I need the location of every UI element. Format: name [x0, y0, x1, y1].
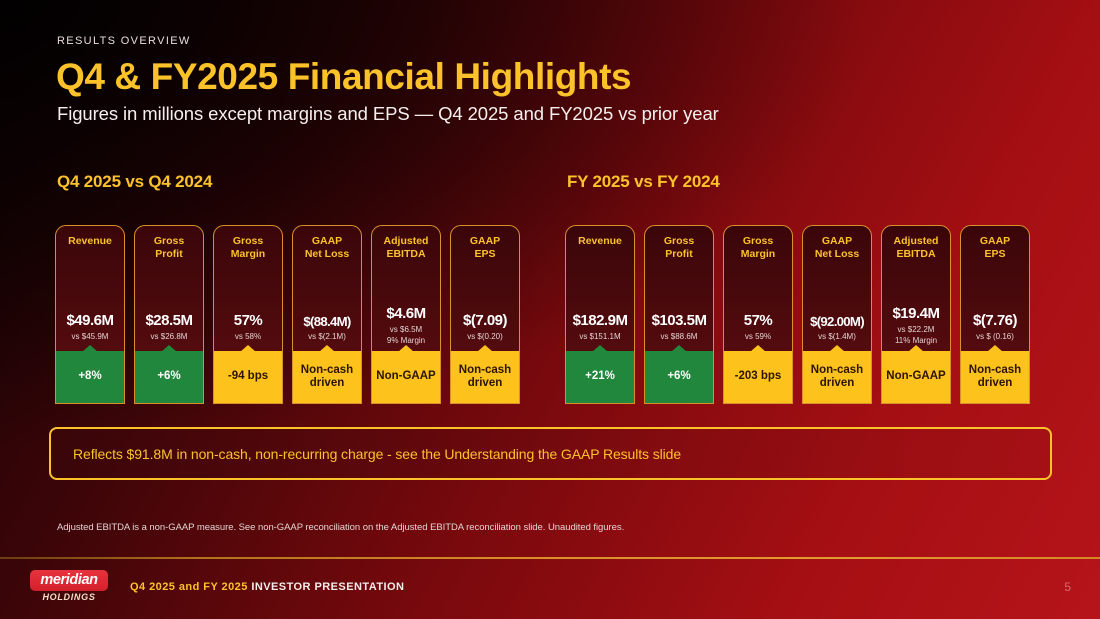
page-title: Q4 & FY2025 Financial Highlights [56, 56, 631, 98]
callout-box: Reflects $91.8M in non-cash, non-recurri… [49, 427, 1052, 480]
brand-logo-name: meridian [30, 570, 108, 591]
metric-card-body: Revenue$182.9Mvs $151.1M [566, 226, 634, 351]
chevron-up-icon [319, 345, 335, 352]
eyebrow-label: RESULTS OVERVIEW [57, 35, 191, 47]
metric-card: GAAP EPS$(7.09)vs $(0.20)Non-cash driven [450, 225, 520, 404]
metric-card-group-fy: Revenue$182.9Mvs $151.1M+21%Gross Profit… [565, 225, 1030, 404]
metric-card-footer: Non-GAAP [882, 351, 950, 403]
metric-card-label: GAAP Net Loss [815, 235, 859, 261]
chevron-up-icon [829, 345, 845, 352]
metric-card-footer: -94 bps [214, 351, 282, 403]
metric-card: GAAP EPS$(7.76)vs $ (0.16)Non-cash drive… [960, 225, 1030, 404]
slide-footer: meridian HOLDINGS Q4 2025 and FY 2025 IN… [0, 559, 1100, 619]
brand-logo: meridian HOLDINGS [30, 570, 108, 602]
metric-card: Adjusted EBITDA$4.6Mvs $6.5M9% MarginNon… [371, 225, 441, 404]
metric-card-body: Gross Profit$103.5Mvs $88.6M [645, 226, 713, 351]
chevron-up-icon [671, 345, 687, 352]
metric-card-footer-label: +21% [585, 370, 615, 383]
metric-card-margin: 9% Margin [387, 336, 425, 345]
metric-card-body: GAAP EPS$(7.09)vs $(0.20) [451, 226, 519, 351]
metric-card-value: 57% [744, 312, 773, 329]
metric-card-value: $4.6M [386, 305, 425, 322]
metric-card-footer-label: -94 bps [228, 370, 268, 383]
metric-card-body: Revenue$49.6Mvs $45.9M [56, 226, 124, 351]
footer-caption: Q4 2025 and FY 2025 INVESTOR PRESENTATIO… [130, 581, 404, 593]
metric-card-value: $49.6M [66, 312, 113, 329]
metric-card-label: GAAP EPS [470, 235, 500, 261]
metric-card-value: $(88.4M) [303, 314, 350, 329]
metric-card: Gross Margin57%vs 58%-94 bps [213, 225, 283, 404]
metric-card-comparison: vs $ (0.16) [976, 332, 1014, 341]
metric-card-body: Gross Margin57%vs 58% [214, 226, 282, 351]
metric-card-footer-label: Non-cash driven [301, 364, 353, 390]
metric-card: Gross Profit$28.5Mvs $26.8M+6% [134, 225, 204, 404]
metric-card-footer: +6% [135, 351, 203, 403]
metric-card: GAAP Net Loss$(88.4M)vs $(2.1M)Non-cash … [292, 225, 362, 404]
chevron-up-icon [240, 345, 256, 352]
metric-card-value: $19.4M [892, 305, 939, 322]
metric-card-label: GAAP Net Loss [305, 235, 349, 261]
metric-card-value: $182.9M [573, 312, 628, 329]
metric-card-comparison: vs $6.5M [390, 325, 422, 334]
metric-card-margin: 11% Margin [895, 336, 937, 345]
metric-card-label: Revenue [68, 235, 112, 248]
metric-card-label: Revenue [578, 235, 622, 248]
metric-card-footer-label: +8% [78, 370, 101, 383]
metric-card-comparison: vs 58% [235, 332, 261, 341]
metric-card-footer: Non-cash driven [961, 351, 1029, 403]
chevron-up-icon [750, 345, 766, 352]
metric-card-label: Adjusted EBITDA [894, 235, 939, 261]
chevron-up-icon [987, 345, 1003, 352]
metric-card: Gross Margin57%vs 59%-203 bps [723, 225, 793, 404]
metric-card-body: Gross Profit$28.5Mvs $26.8M [135, 226, 203, 351]
callout-text: Reflects $91.8M in non-cash, non-recurri… [51, 446, 681, 462]
metric-card-footer: Non-cash driven [803, 351, 871, 403]
metric-card-value: $103.5M [652, 312, 707, 329]
metric-card-footer: +21% [566, 351, 634, 403]
metric-card-value: $28.5M [145, 312, 192, 329]
metric-card-label: Adjusted EBITDA [384, 235, 429, 261]
chevron-up-icon [592, 345, 608, 352]
metric-card-value: 57% [234, 312, 263, 329]
metric-card-footer: -203 bps [724, 351, 792, 403]
metric-card: Revenue$182.9Mvs $151.1M+21% [565, 225, 635, 404]
metric-card: GAAP Net Loss$(92.00M)vs $(1.4M)Non-cash… [802, 225, 872, 404]
metric-card-label: GAAP EPS [980, 235, 1010, 261]
chevron-up-icon [908, 345, 924, 352]
metric-card-value: $(7.09) [463, 312, 507, 329]
metric-card-footer-label: Non-cash driven [459, 364, 511, 390]
metric-card: Adjusted EBITDA$19.4Mvs $22.2M11% Margin… [881, 225, 951, 404]
brand-logo-subtitle: HOLDINGS [30, 592, 108, 602]
metric-card-footer-label: +6% [157, 370, 180, 383]
metric-card-footer-label: Non-GAAP [886, 370, 945, 383]
metric-card-footer-label: Non-GAAP [376, 370, 435, 383]
page-subtitle: Figures in millions except margins and E… [57, 103, 719, 125]
chevron-up-icon [82, 345, 98, 352]
metric-card-label: Gross Profit [664, 235, 694, 261]
chevron-up-icon [161, 345, 177, 352]
metric-card-footer: +8% [56, 351, 124, 403]
metric-card-comparison: vs $(1.4M) [818, 332, 856, 341]
metric-card-footer: Non-cash driven [451, 351, 519, 403]
metric-card-comparison: vs 59% [745, 332, 771, 341]
metric-card-footer-label: Non-cash driven [969, 364, 1021, 390]
metric-card-footer-label: +6% [667, 370, 690, 383]
metric-card-comparison: vs $88.6M [661, 332, 698, 341]
metric-card-footer: Non-cash driven [293, 351, 361, 403]
group-heading-fy: FY 2025 vs FY 2024 [567, 172, 720, 192]
metric-card-footer: Non-GAAP [372, 351, 440, 403]
metric-card-group-q4: Revenue$49.6Mvs $45.9M+8%Gross Profit$28… [55, 225, 520, 404]
chevron-up-icon [398, 345, 414, 352]
footer-caption-accent: Q4 2025 and FY 2025 [130, 581, 248, 593]
footer-caption-plain: INVESTOR PRESENTATION [248, 581, 405, 593]
metric-card-comparison: vs $(2.1M) [308, 332, 346, 341]
slide-canvas: RESULTS OVERVIEW Q4 & FY2025 Financial H… [0, 0, 1100, 619]
metric-card-body: Adjusted EBITDA$4.6Mvs $6.5M9% Margin [372, 226, 440, 351]
chevron-up-icon [477, 345, 493, 352]
page-number: 5 [1064, 580, 1071, 594]
metric-card-comparison: vs $22.2M [898, 325, 935, 334]
metric-card-body: GAAP Net Loss$(88.4M)vs $(2.1M) [293, 226, 361, 351]
metric-card-body: Gross Margin57%vs 59% [724, 226, 792, 351]
metric-card-comparison: vs $45.9M [72, 332, 109, 341]
metric-card-body: GAAP EPS$(7.76)vs $ (0.16) [961, 226, 1029, 351]
metric-card: Gross Profit$103.5Mvs $88.6M+6% [644, 225, 714, 404]
metric-card-label: Gross Profit [154, 235, 184, 261]
metric-card-label: Gross Margin [741, 235, 775, 261]
metric-card: Revenue$49.6Mvs $45.9M+8% [55, 225, 125, 404]
footnote-text: Adjusted EBITDA is a non-GAAP measure. S… [57, 522, 624, 533]
metric-card-footer-label: -203 bps [735, 370, 782, 383]
metric-card-body: Adjusted EBITDA$19.4Mvs $22.2M11% Margin [882, 226, 950, 351]
metric-card-comparison: vs $(0.20) [467, 332, 503, 341]
metric-card-value: $(7.76) [973, 312, 1017, 329]
metric-card-label: Gross Margin [231, 235, 265, 261]
metric-card-comparison: vs $151.1M [579, 332, 620, 341]
metric-card-value: $(92.00M) [810, 314, 864, 329]
metric-card-body: GAAP Net Loss$(92.00M)vs $(1.4M) [803, 226, 871, 351]
metric-card-comparison: vs $26.8M [151, 332, 188, 341]
metric-card-footer: +6% [645, 351, 713, 403]
metric-card-footer-label: Non-cash driven [811, 364, 863, 390]
group-heading-q4: Q4 2025 vs Q4 2024 [57, 172, 212, 192]
